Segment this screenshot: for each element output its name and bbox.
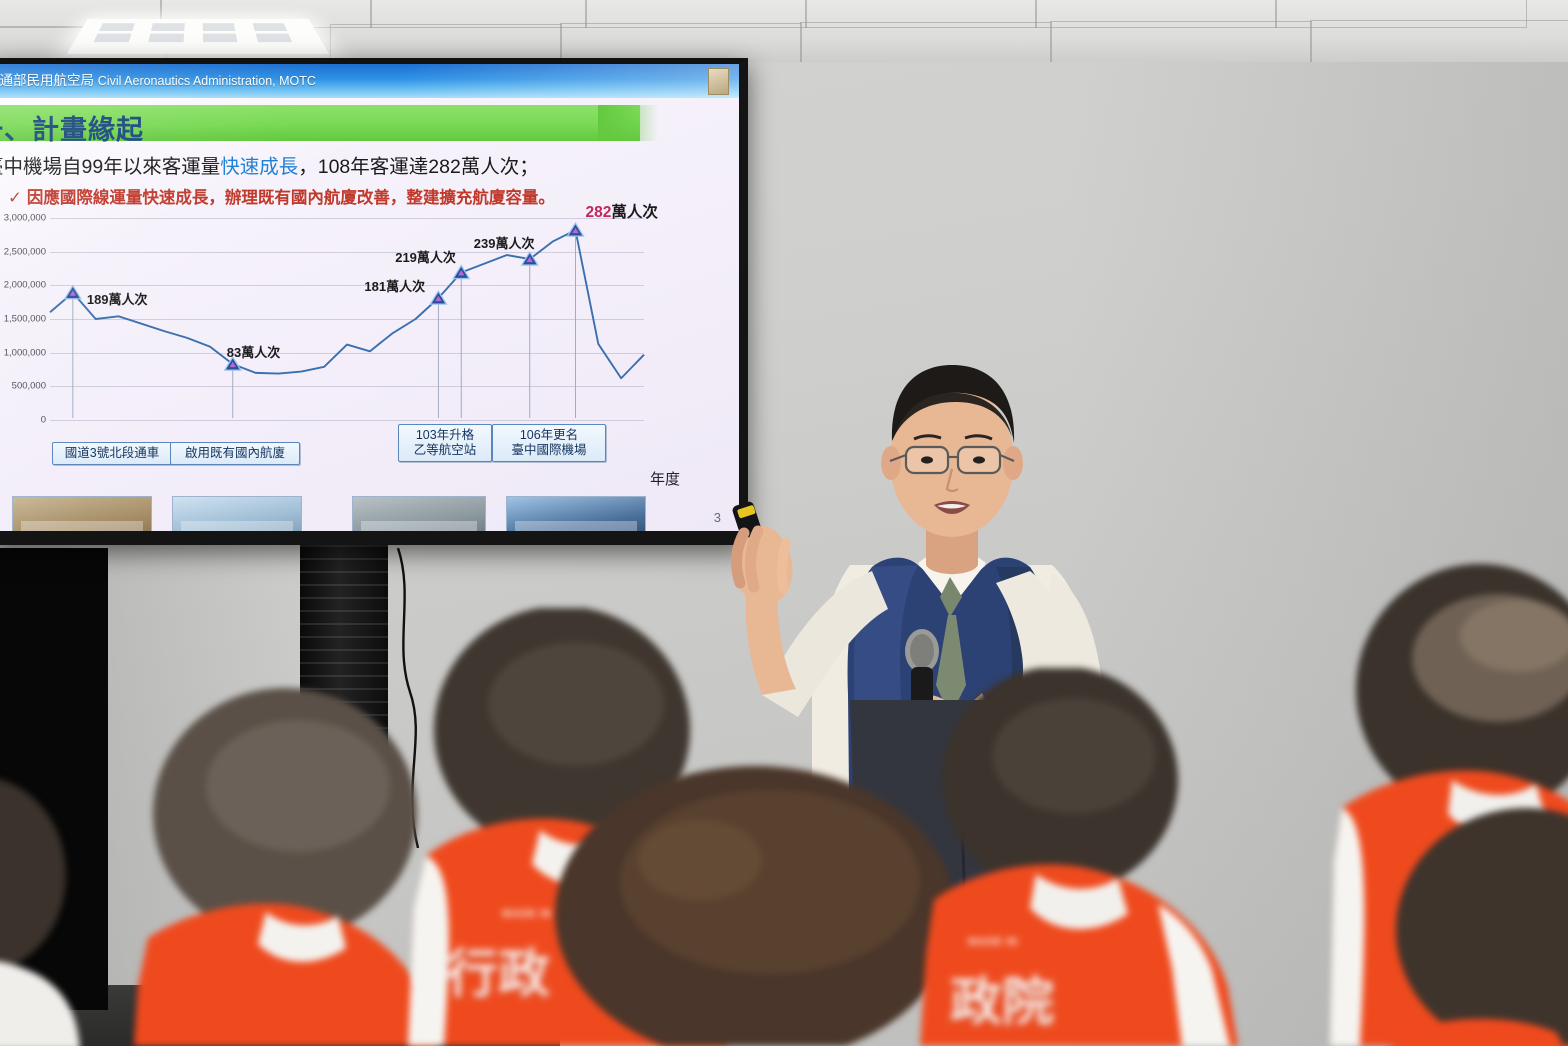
presentation-screen[interactable]: 交通部民用航空局 Civil Aeronautics Administratio… xyxy=(0,58,748,545)
tv-bezel xyxy=(0,58,748,545)
audience-member-0 xyxy=(0,770,110,1046)
audience-vest-logo-right: MADE IN xyxy=(968,936,1018,948)
audience-member-4: MADE IN 政院 xyxy=(910,668,1270,1046)
audience-member-3 xyxy=(540,764,970,1046)
audience-vest-text-right: 政院 xyxy=(950,960,1054,1035)
audience-vest-text-left: 行政 xyxy=(446,932,550,1007)
photo-scene: 交通部民用航空局 Civil Aeronautics Administratio… xyxy=(0,0,1568,1046)
audience-member-6 xyxy=(1386,800,1568,1046)
ceiling-light-fixture xyxy=(67,19,329,54)
